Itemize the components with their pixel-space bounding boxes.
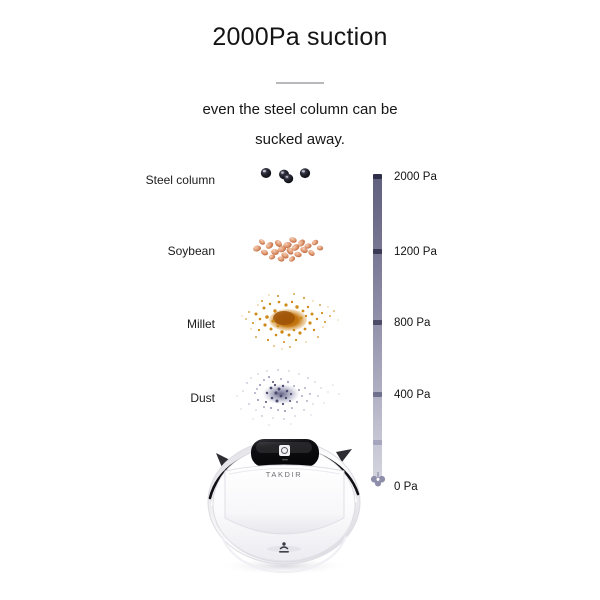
- page-title: 2000Pa suction: [0, 23, 600, 52]
- cluster-dust: [229, 358, 347, 432]
- subtitle-line-1: even the steel column can be: [0, 95, 600, 125]
- scale-label-2000pa: 2000 Pa: [394, 171, 437, 183]
- scale-tick-minor: [373, 440, 382, 445]
- scale-tick-800: [373, 320, 382, 325]
- page-subtitle: even the steel column can be sucked away…: [0, 95, 600, 155]
- cluster-steel-column: [253, 160, 323, 190]
- robot-vacuum-product-image: TAKDIR: [196, 426, 372, 576]
- robot-brand-label: TAKDIR: [196, 470, 372, 479]
- row-label-steel-column: Steel column: [146, 173, 215, 187]
- scale-tick-2000: [373, 174, 382, 179]
- scale-tick-400: [373, 392, 382, 397]
- scale-tick-1200: [373, 249, 382, 254]
- suction-scale: 2000 Pa 1200 Pa 800 Pa 400 Pa 0 Pa: [373, 174, 382, 484]
- scale-label-0pa: 0 Pa: [394, 481, 418, 493]
- row-label-soybean: Soybean: [168, 244, 215, 258]
- scale-label-800pa: 800 Pa: [394, 317, 430, 329]
- title-divider: [276, 82, 324, 84]
- cluster-soybean: [238, 226, 338, 272]
- cluster-millet: [234, 285, 346, 355]
- suction-scale-bar: [373, 174, 382, 484]
- scale-label-400pa: 400 Pa: [394, 389, 430, 401]
- row-label-millet: Millet: [187, 317, 215, 331]
- subtitle-line-2: sucked away.: [0, 125, 600, 155]
- scale-label-1200pa: 1200 Pa: [394, 246, 437, 258]
- row-label-dust: Dust: [190, 391, 215, 405]
